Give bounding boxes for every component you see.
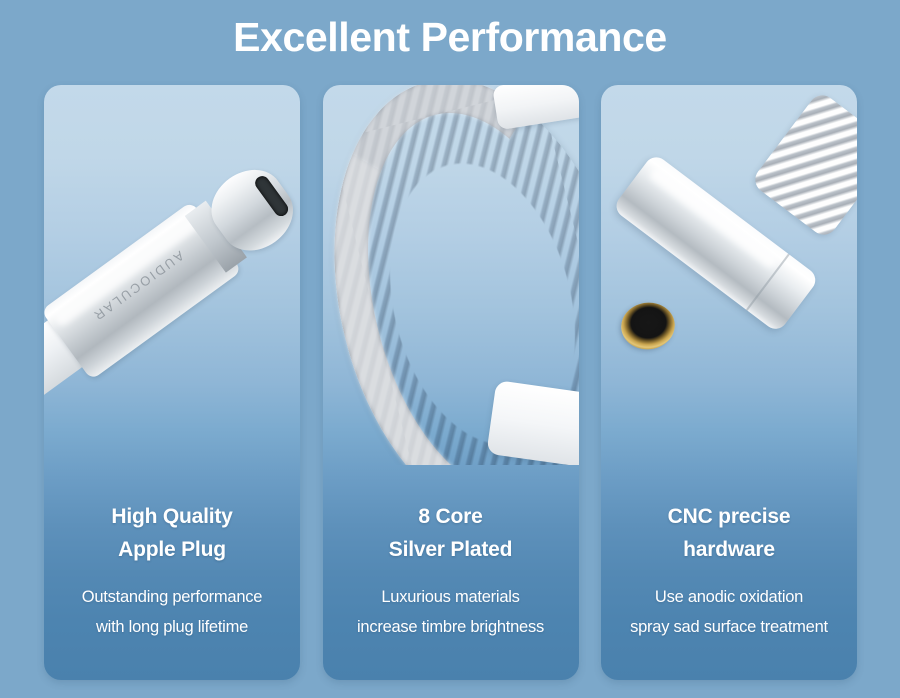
card-headline-line-1: 8 Core (323, 500, 579, 533)
card-text-block: High Quality Apple Plug Outstanding perf… (44, 500, 300, 680)
jack-port-opening (610, 293, 686, 359)
card-headline-line-1: CNC precise (601, 500, 857, 533)
page-title: Excellent Performance (0, 12, 900, 62)
feature-card-cnc-precise-hardware[interactable]: CNC precise hardware Use anodic oxidatio… (601, 85, 857, 680)
card-headline: CNC precise hardware (601, 500, 857, 566)
card-subline: Use anodic oxidation spray sad surface t… (601, 582, 857, 642)
feature-card-row: AUDIOCULAR High Quality Apple Plug Outst… (44, 85, 857, 680)
braided-silver-cable-photo (323, 85, 579, 465)
card-text-block: 8 Core Silver Plated Luxurious materials… (323, 500, 579, 680)
card-headline-line-2: Apple Plug (44, 533, 300, 566)
usb-c-apple-plug-photo: AUDIOCULAR (44, 85, 300, 465)
feature-card-8-core-silver-plated[interactable]: 8 Core Silver Plated Luxurious materials… (323, 85, 579, 680)
product-feature-banner: Excellent Performance AUDIOCULAR High Qu… (0, 0, 900, 698)
feature-card-high-quality-apple-plug[interactable]: AUDIOCULAR High Quality Apple Plug Outst… (44, 85, 300, 680)
card-headline: 8 Core Silver Plated (323, 500, 579, 566)
brand-engraving-label: AUDIOCULAR (73, 236, 203, 336)
jack-cable-braid (750, 90, 857, 240)
card-subline-line-1: Luxurious materials (323, 582, 579, 612)
card-subline-line-1: Outstanding performance (44, 582, 300, 612)
card-headline-line-2: Silver Plated (323, 533, 579, 566)
plug-illustration: AUDIOCULAR (44, 85, 300, 465)
jack-illustration (601, 85, 857, 465)
3-5mm-jack-photo (601, 85, 857, 465)
braid-illustration (323, 85, 579, 465)
cable-housing-bottom (486, 380, 579, 465)
card-headline: High Quality Apple Plug (44, 500, 300, 566)
card-subline-line-2: spray sad surface treatment (601, 612, 857, 642)
card-headline-line-1: High Quality (44, 500, 300, 533)
cable-housing-top (492, 85, 579, 130)
card-text-block: CNC precise hardware Use anodic oxidatio… (601, 500, 857, 680)
card-subline-line-1: Use anodic oxidation (601, 582, 857, 612)
card-subline-line-2: with long plug lifetime (44, 612, 300, 642)
card-subline-line-2: increase timbre brightness (323, 612, 579, 642)
card-subline: Luxurious materials increase timbre brig… (323, 582, 579, 642)
card-headline-line-2: hardware (601, 533, 857, 566)
card-subline: Outstanding performance with long plug l… (44, 582, 300, 642)
